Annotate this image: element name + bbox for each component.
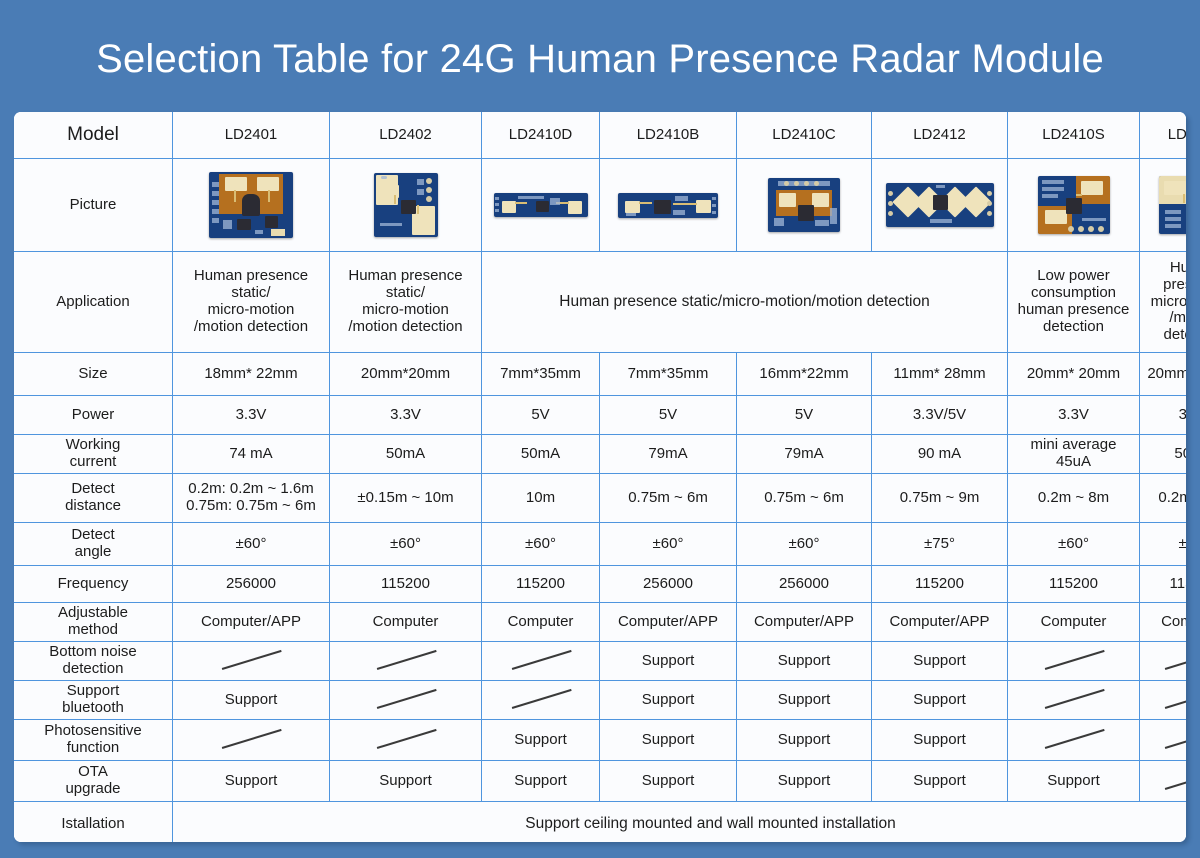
row-label-adjustable-method: Adjustablemethod — [14, 603, 173, 642]
picture-ld2410d — [482, 159, 600, 252]
not-supported-icon — [375, 730, 437, 750]
cell-adjust-ld2402: Computer — [330, 603, 482, 642]
cell-angle-ld2412: ±75° — [872, 523, 1008, 566]
table-row-detect-angle: Detectangle ±60° ±60° ±60° ±60° ±60° ±75… — [14, 523, 1186, 566]
spec-table-container: Model LD2401 LD2402 LD2410D LD2410B LD24… — [14, 112, 1186, 842]
picture-ld2410s — [1008, 159, 1140, 252]
row-label-application: Application — [14, 252, 173, 353]
picture-ld2402 — [330, 159, 482, 252]
cell-current-ld2412: 90 mA — [872, 435, 1008, 474]
cell-distance-ld2420: 0.2m ~ 8m — [1140, 474, 1187, 523]
header-ld2401: LD2401 — [173, 112, 330, 159]
not-supported-icon — [220, 730, 282, 750]
pcb-image-ld2412 — [886, 183, 994, 227]
cell-ota-ld2402: Support — [330, 761, 482, 802]
header-ld2410c: LD2410C — [737, 112, 872, 159]
row-label-bottom-noise: Bottom noisedetection — [14, 642, 173, 681]
cell-bt-ld2410c: Support — [737, 681, 872, 720]
cell-adjust-ld2401: Computer/APP — [173, 603, 330, 642]
header-ld2410d: LD2410D — [482, 112, 600, 159]
pcb-image-ld2402 — [374, 173, 438, 237]
cell-distance-ld2410c: 0.75m ~ 6m — [737, 474, 872, 523]
table-row-bottom-noise: Bottom noisedetection Support Support Su… — [14, 642, 1186, 681]
pcb-image-ld2401 — [209, 172, 293, 238]
cell-adjust-ld2410s: Computer — [1008, 603, 1140, 642]
not-supported-icon — [1043, 690, 1105, 710]
cell-photo-ld2410c: Support — [737, 720, 872, 761]
row-label-istallation: Istallation — [14, 802, 173, 843]
row-label-photosensitive: Photosensitivefunction — [14, 720, 173, 761]
cell-frequency-ld2420: 115200 — [1140, 566, 1187, 603]
cell-frequency-ld2410s: 115200 — [1008, 566, 1140, 603]
page-title: Selection Table for 24G Human Presence R… — [0, 34, 1200, 84]
cell-noise-ld2410d — [482, 642, 600, 681]
cell-distance-ld2410s: 0.2m ~ 8m — [1008, 474, 1140, 523]
row-label-size: Size — [14, 353, 173, 396]
cell-application-merged: Human presence static/micro-motion/motio… — [482, 252, 1008, 353]
cell-current-ld2410b: 79mA — [600, 435, 737, 474]
table-row-ota: OTAupgrade Support Support Support Suppo… — [14, 761, 1186, 802]
table-row-working-current: Workingcurrent 74 mA 50mA 50mA 79mA 79mA… — [14, 435, 1186, 474]
cell-noise-ld2401 — [173, 642, 330, 681]
row-label-detect-distance: Detectdistance — [14, 474, 173, 523]
cell-application-ld2420: Human presence micro-motion /motion dete… — [1140, 252, 1187, 353]
cell-frequency-ld2410c: 256000 — [737, 566, 872, 603]
not-supported-icon — [375, 651, 437, 671]
table-row-detect-distance: Detectdistance 0.2m: 0.2m ~ 1.6m 0.75m: … — [14, 474, 1186, 523]
not-supported-icon — [1163, 651, 1186, 671]
cell-ota-ld2410d: Support — [482, 761, 600, 802]
cell-frequency-ld2401: 256000 — [173, 566, 330, 603]
cell-photo-ld2402 — [330, 720, 482, 761]
cell-frequency-ld2402: 115200 — [330, 566, 482, 603]
table-row-size: Size 18mm* 22mm 20mm*20mm 7mm*35mm 7mm*3… — [14, 353, 1186, 396]
not-supported-icon — [375, 690, 437, 710]
cell-photo-ld2401 — [173, 720, 330, 761]
header-ld2420: LD2420 — [1140, 112, 1187, 159]
not-supported-icon — [1163, 690, 1186, 710]
not-supported-icon — [1163, 730, 1186, 750]
header-ld2410s: LD2410S — [1008, 112, 1140, 159]
cell-photo-ld2420 — [1140, 720, 1187, 761]
cell-angle-ld2401: ±60° — [173, 523, 330, 566]
cell-power-ld2410s: 3.3V — [1008, 396, 1140, 435]
not-supported-icon — [510, 690, 572, 710]
cell-bt-ld2412: Support — [872, 681, 1008, 720]
not-supported-icon — [1043, 651, 1105, 671]
cell-distance-ld2401: 0.2m: 0.2m ~ 1.6m 0.75m: 0.75m ~ 6m — [173, 474, 330, 523]
pcb-image-ld2410b — [618, 193, 718, 218]
cell-power-ld2401: 3.3V — [173, 396, 330, 435]
cell-bt-ld2402 — [330, 681, 482, 720]
cell-bt-ld2410d — [482, 681, 600, 720]
picture-ld2410c — [737, 159, 872, 252]
picture-ld2410b — [600, 159, 737, 252]
cell-ota-ld2412: Support — [872, 761, 1008, 802]
cell-size-ld2410c: 16mm*22mm — [737, 353, 872, 396]
header-ld2410b: LD2410B — [600, 112, 737, 159]
not-supported-icon — [1043, 730, 1105, 750]
cell-ota-ld2420 — [1140, 761, 1187, 802]
cell-adjust-ld2410b: Computer/APP — [600, 603, 737, 642]
picture-ld2412 — [872, 159, 1008, 252]
cell-power-ld2412: 3.3V/5V — [872, 396, 1008, 435]
cell-distance-ld2410d: 10m — [482, 474, 600, 523]
cell-photo-ld2410b: Support — [600, 720, 737, 761]
cell-noise-ld2410c: Support — [737, 642, 872, 681]
cell-size-ld2412: 11mm* 28mm — [872, 353, 1008, 396]
row-label-detect-angle: Detectangle — [14, 523, 173, 566]
pcb-image-ld2410c — [768, 178, 840, 232]
cell-distance-ld2402: ±0.15m ~ 10m — [330, 474, 482, 523]
cell-frequency-ld2410b: 256000 — [600, 566, 737, 603]
cell-noise-ld2402 — [330, 642, 482, 681]
row-label-ota: OTAupgrade — [14, 761, 173, 802]
pcb-image-ld2410d — [494, 193, 588, 217]
table-row-adjustable-method: Adjustablemethod Computer/APP Computer C… — [14, 603, 1186, 642]
cell-power-ld2402: 3.3V — [330, 396, 482, 435]
cell-bt-ld2410b: Support — [600, 681, 737, 720]
cell-angle-ld2410s: ±60° — [1008, 523, 1140, 566]
cell-bt-ld2420 — [1140, 681, 1187, 720]
cell-power-ld2420: 3.3V — [1140, 396, 1187, 435]
row-label-picture: Picture — [14, 159, 173, 252]
row-label-frequency: Frequency — [14, 566, 173, 603]
cell-current-ld2410d: 50mA — [482, 435, 600, 474]
cell-noise-ld2410s — [1008, 642, 1140, 681]
cell-power-ld2410d: 5V — [482, 396, 600, 435]
cell-istallation-merged: Support ceiling mounted and wall mounted… — [173, 802, 1187, 843]
header-ld2412: LD2412 — [872, 112, 1008, 159]
cell-noise-ld2412: Support — [872, 642, 1008, 681]
cell-ota-ld2410b: Support — [600, 761, 737, 802]
cell-power-ld2410b: 5V — [600, 396, 737, 435]
pcb-image-ld2420 — [1159, 176, 1186, 234]
cell-photo-ld2410d: Support — [482, 720, 600, 761]
cell-ota-ld2410c: Support — [737, 761, 872, 802]
table-row-power: Power 3.3V 3.3V 5V 5V 5V 3.3V/5V 3.3V 3.… — [14, 396, 1186, 435]
cell-ota-ld2410s: Support — [1008, 761, 1140, 802]
header-ld2402: LD2402 — [330, 112, 482, 159]
cell-current-ld2410c: 79mA — [737, 435, 872, 474]
cell-adjust-ld2410d: Computer — [482, 603, 600, 642]
table-row-frequency: Frequency 256000 115200 115200 256000 25… — [14, 566, 1186, 603]
cell-bt-ld2410s — [1008, 681, 1140, 720]
cell-angle-ld2410d: ±60° — [482, 523, 600, 566]
cell-bt-ld2401: Support — [173, 681, 330, 720]
table-row-istallation: Istallation Support ceiling mounted and … — [14, 802, 1186, 843]
header-model: Model — [14, 112, 173, 159]
cell-size-ld2410d: 7mm*35mm — [482, 353, 600, 396]
cell-current-ld2420: 50mA — [1140, 435, 1187, 474]
cell-distance-ld2410b: 0.75m ~ 6m — [600, 474, 737, 523]
cell-current-ld2410s: mini average45uA — [1008, 435, 1140, 474]
cell-current-ld2402: 50mA — [330, 435, 482, 474]
not-supported-icon — [1163, 771, 1186, 791]
spec-table: Model LD2401 LD2402 LD2410D LD2410B LD24… — [14, 112, 1186, 842]
cell-adjust-ld2420: Computer — [1140, 603, 1187, 642]
cell-photo-ld2410s — [1008, 720, 1140, 761]
cell-size-ld2410b: 7mm*35mm — [600, 353, 737, 396]
picture-ld2401 — [173, 159, 330, 252]
table-row-picture: Picture — [14, 159, 1186, 252]
pcb-image-ld2410s — [1038, 176, 1110, 234]
cell-size-ld2401: 18mm* 22mm — [173, 353, 330, 396]
not-supported-icon — [510, 651, 572, 671]
table-row-application: Application Human presence static/ micro… — [14, 252, 1186, 353]
cell-noise-ld2410b: Support — [600, 642, 737, 681]
cell-adjust-ld2410c: Computer/APP — [737, 603, 872, 642]
cell-frequency-ld2412: 115200 — [872, 566, 1008, 603]
cell-angle-ld2402: ±60° — [330, 523, 482, 566]
cell-application-ld2410s: Low power consumption human presence det… — [1008, 252, 1140, 353]
cell-distance-ld2412: 0.75m ~ 9m — [872, 474, 1008, 523]
cell-application-ld2401: Human presence static/ micro-motion /mot… — [173, 252, 330, 353]
table-row-bluetooth: Supportbluetooth Support Support Support… — [14, 681, 1186, 720]
cell-power-ld2410c: 5V — [737, 396, 872, 435]
cell-size-ld2402: 20mm*20mm — [330, 353, 482, 396]
table-header-row: Model LD2401 LD2402 LD2410D LD2410B LD24… — [14, 112, 1186, 159]
row-label-working-current: Workingcurrent — [14, 435, 173, 474]
poster-root: Selection Table for 24G Human Presence R… — [0, 0, 1200, 858]
cell-angle-ld2420: ±60° — [1140, 523, 1187, 566]
table-row-photosensitive: Photosensitivefunction Support Support S… — [14, 720, 1186, 761]
cell-adjust-ld2412: Computer/APP — [872, 603, 1008, 642]
cell-noise-ld2420 — [1140, 642, 1187, 681]
cell-size-ld2410s: 20mm* 20mm — [1008, 353, 1140, 396]
picture-ld2420 — [1140, 159, 1187, 252]
row-label-bluetooth: Supportbluetooth — [14, 681, 173, 720]
cell-photo-ld2412: Support — [872, 720, 1008, 761]
cell-frequency-ld2410d: 115200 — [482, 566, 600, 603]
cell-ota-ld2401: Support — [173, 761, 330, 802]
cell-application-ld2402: Human presence static/ micro-motion /mot… — [330, 252, 482, 353]
not-supported-icon — [220, 651, 282, 671]
cell-angle-ld2410b: ±60° — [600, 523, 737, 566]
cell-angle-ld2410c: ±60° — [737, 523, 872, 566]
row-label-power: Power — [14, 396, 173, 435]
cell-size-ld2420: 20mm* 20mm — [1140, 353, 1187, 396]
cell-current-ld2401: 74 mA — [173, 435, 330, 474]
